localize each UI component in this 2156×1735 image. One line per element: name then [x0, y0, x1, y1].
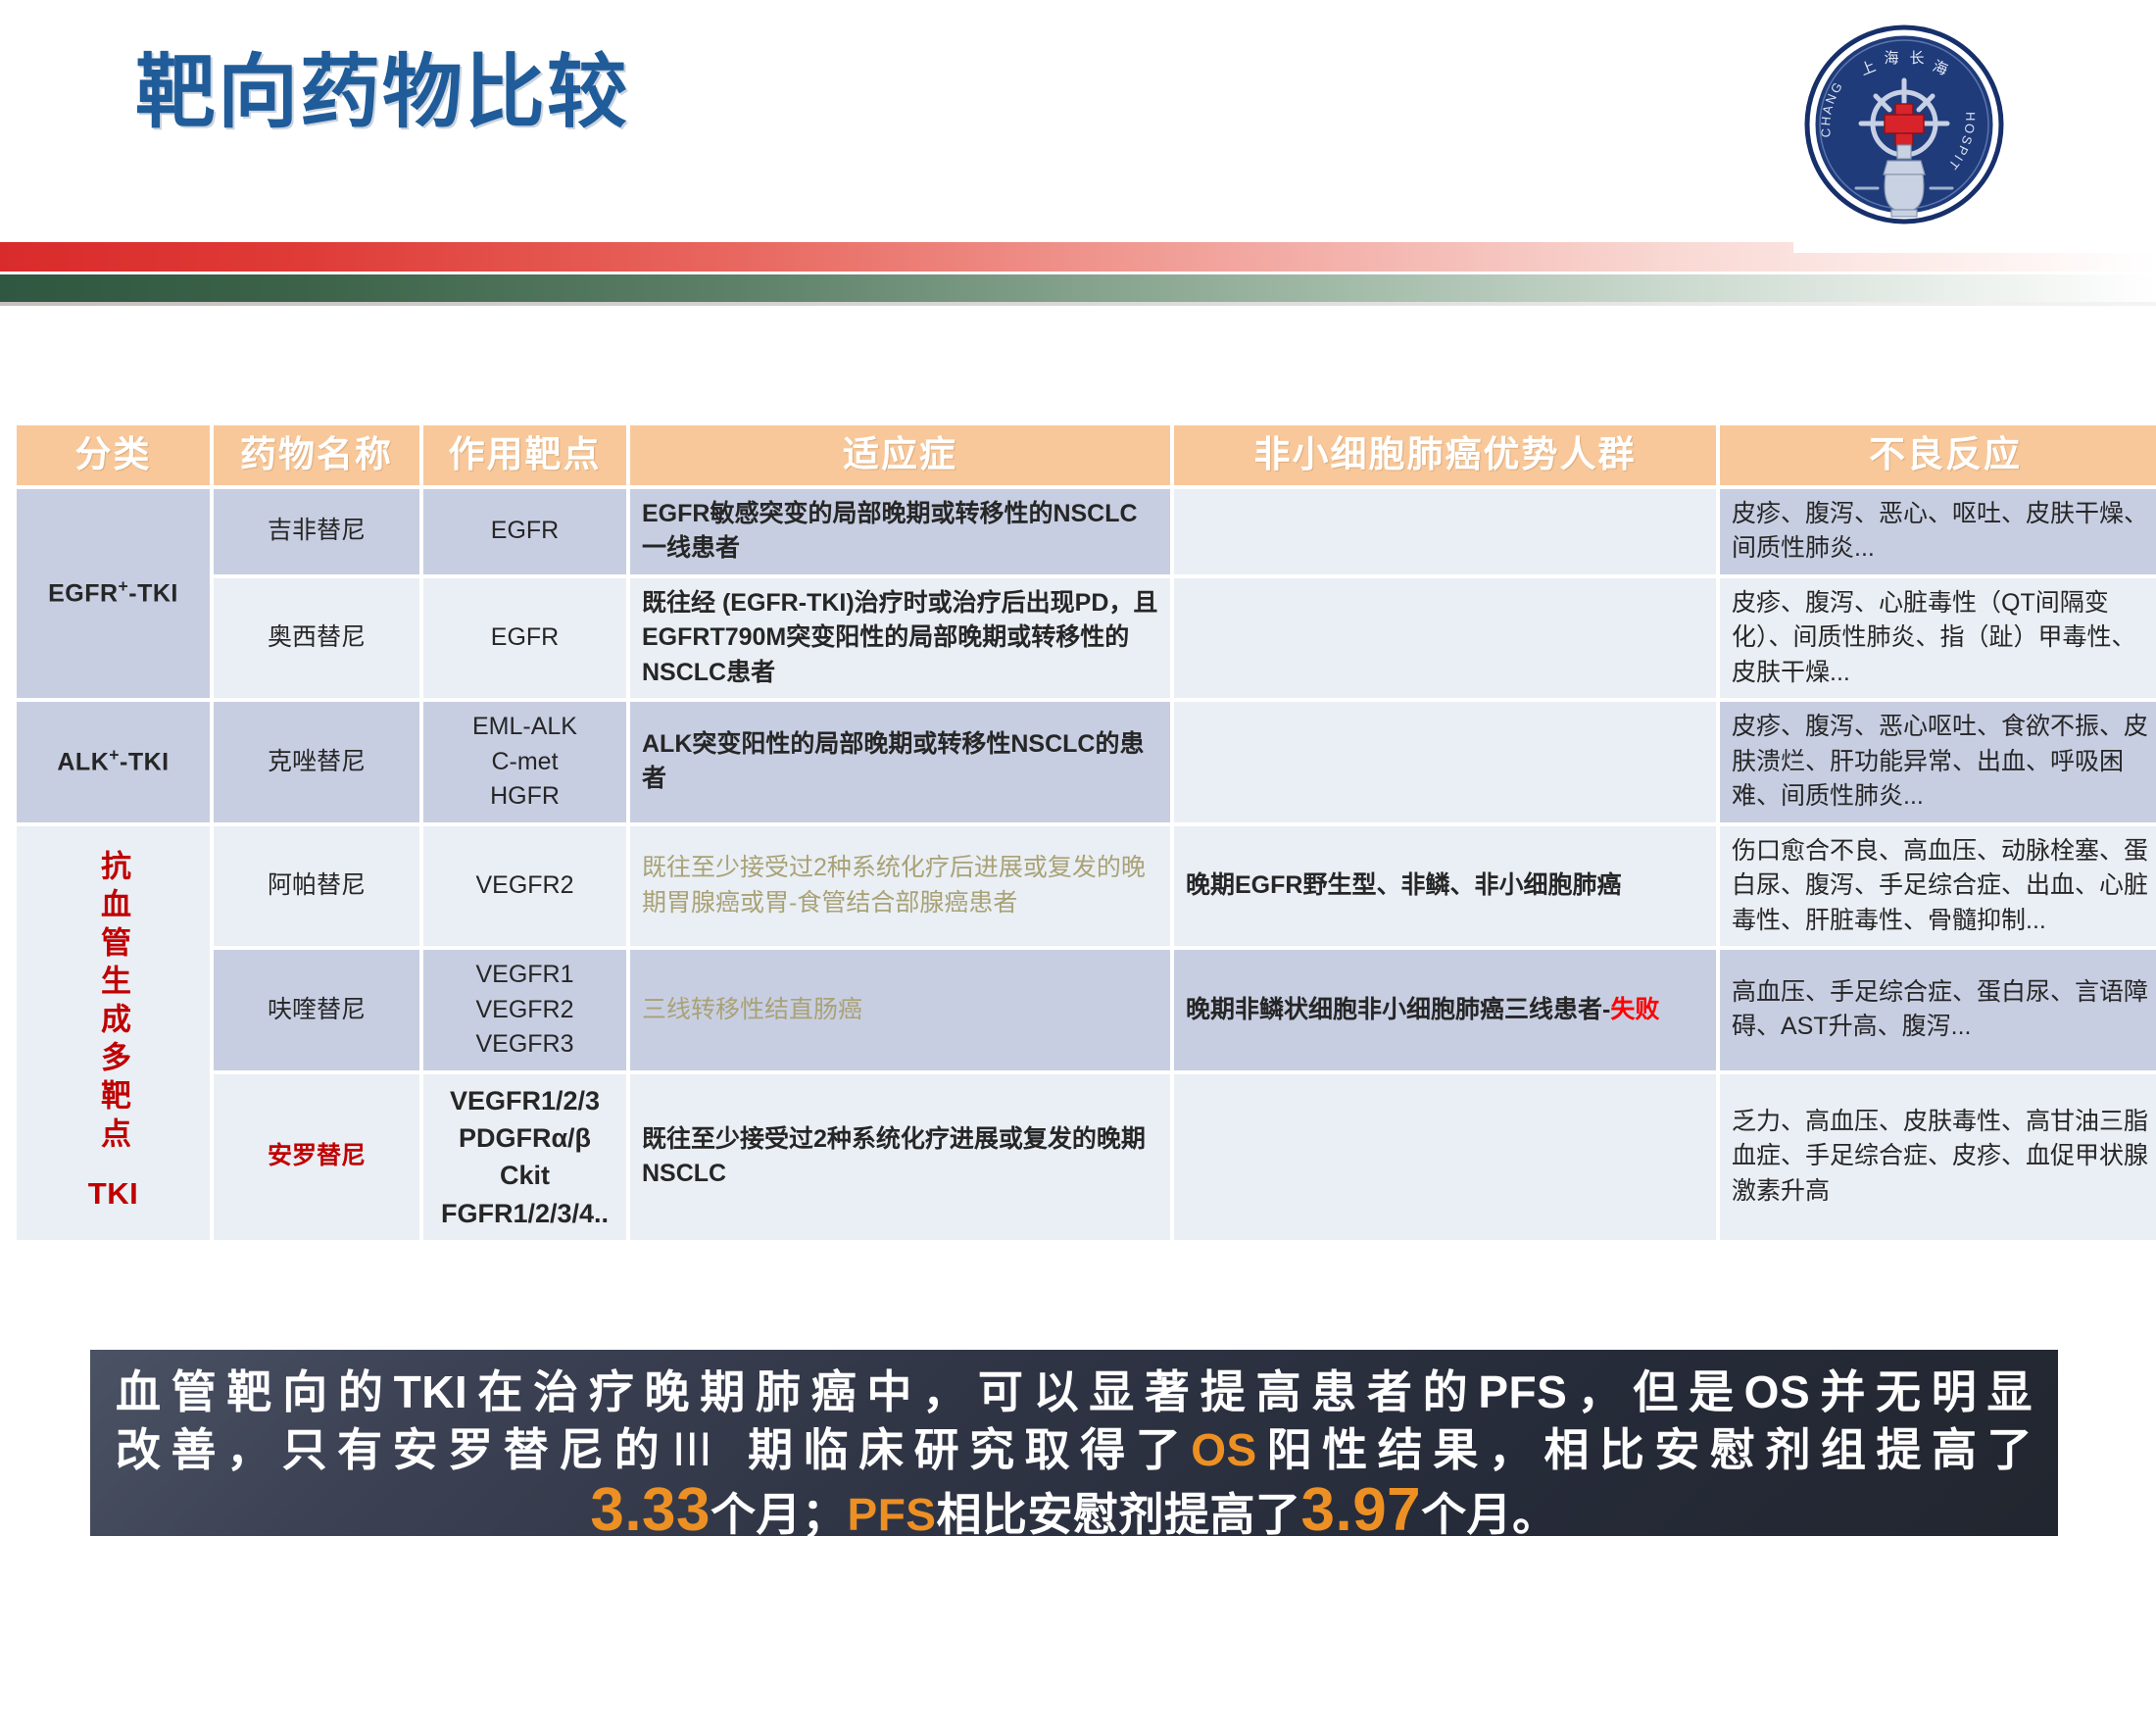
drug-comparison-table: 分类 药物名称 作用靶点 适应症 非小细胞肺癌优势人群 不良反应 EGFR+-T…: [13, 421, 2147, 1244]
adverse-cell: 皮疹、腹泻、恶心呕吐、食欲不振、皮肤溃烂、肝功能异常、出血、呼吸困难、间质性肺炎…: [1720, 702, 2156, 822]
conclusion-pfs-months: 3.97: [1300, 1476, 1421, 1544]
target-item: Ckit: [435, 1157, 614, 1194]
drug-name-cell: 克唑替尼: [214, 702, 419, 822]
table-row: ALK+-TKI 克唑替尼 EML-ALK C-met HGFR ALK突变阳性…: [17, 702, 2156, 822]
conclusion-line3-part-a: 个月；: [710, 1489, 848, 1540]
conclusion-line3-part-b: 相比安慰剂提高了: [936, 1489, 1300, 1540]
drug-name-cell: 吉非替尼: [214, 489, 419, 574]
category-cell-egfr: EGFR+-TKI: [17, 489, 210, 699]
target-item: EGFR: [435, 620, 614, 656]
target-item: VEGFR2: [435, 868, 614, 904]
population-cell: 晚期EGFR野生型、非鳞、非小细胞肺癌: [1174, 826, 1716, 947]
column-header-target: 作用靶点: [423, 425, 626, 485]
adverse-cell: 乏力、高血压、皮肤毒性、高甘油三脂血症、手足综合症、皮疹、血促甲状腺激素升高: [1720, 1074, 2156, 1240]
population-cell: 晚期非鳞状细胞非小细胞肺癌三线患者-失败: [1174, 950, 1716, 1070]
table-row: EGFR+-TKI 吉非替尼 EGFR EGFR敏感突变的局部晚期或转移性的NS…: [17, 489, 2156, 574]
category-label-egfr-tail: -TKI: [128, 580, 178, 608]
adverse-cell: 伤口愈合不良、高血压、动脉栓塞、蛋白尿、腹泻、手足综合症、出血、心脏毒性、肝脏毒…: [1720, 826, 2156, 947]
target-cell: EML-ALK C-met HGFR: [423, 702, 626, 822]
target-cell: EGFR: [423, 578, 626, 699]
table-row: 奥西替尼 EGFR 既往经 (EGFR-TKI)治疗时或治疗后出现PD，且EGF…: [17, 578, 2156, 699]
conclusion-callout: 血管靶向的TKI在治疗晚期肺癌中，可以显著提高患者的PFS，但是OS并无明显 改…: [90, 1350, 2058, 1536]
target-item: VEGFR1: [435, 958, 614, 993]
table-header-row: 分类 药物名称 作用靶点 适应症 非小细胞肺癌优势人群 不良反应: [17, 425, 2156, 485]
indication-cell: 三线转移性结直肠癌: [630, 950, 1170, 1070]
target-cell: VEGFR2: [423, 826, 626, 947]
target-item: FGFR1/2/3/4..: [435, 1195, 614, 1232]
conclusion-os-months: 3.33: [590, 1476, 710, 1544]
population-cell-empty: [1174, 578, 1716, 699]
category-cell-antiangiogenic: 抗血管生成多靶点 TKI: [17, 826, 210, 1240]
conclusion-line2-part-a: 改善，只有安罗替尼的: [116, 1424, 669, 1475]
adverse-cell: 皮疹、腹泻、心脏毒性（QT间隔变化）、间质性肺炎、指（趾）甲毒性、皮肤干燥...: [1720, 578, 2156, 699]
indication-cell: EGFR敏感突变的局部晚期或转移性的NSCLC一线患者: [630, 489, 1170, 574]
category-label-egfr-base: EGFR: [48, 580, 118, 608]
category-cell-alk: ALK+-TKI: [17, 702, 210, 822]
indication-cell: ALK突变阳性的局部晚期或转移性NSCLC的患者: [630, 702, 1170, 822]
population-text: 晚期非鳞状细胞非小细胞肺癌三线患者-: [1186, 996, 1610, 1023]
conclusion-pfs-accent: PFS: [848, 1489, 937, 1540]
conclusion-line-3: 3.33个月；PFS相比安慰剂提高了3.97个月。: [116, 1480, 2033, 1544]
conclusion-line2-part-b: 期临床研究取得了: [725, 1424, 1191, 1475]
column-header-indication: 适应症: [630, 425, 1170, 485]
conclusion-line2-part-c: 阳性结果，相比安慰剂组提高了: [1257, 1424, 2033, 1475]
target-item: VEGFR2: [435, 993, 614, 1028]
target-item: EML-ALK: [435, 710, 614, 745]
table-row: 呋喹替尼 VEGFR1 VEGFR2 VEGFR3 三线转移性结直肠癌 晚期非鳞…: [17, 950, 2156, 1070]
category-label-alk-sup: +: [109, 745, 120, 765]
page-title: 靶向药物比较: [135, 51, 629, 135]
category-label-antiangiogenic-vertical: 抗血管生成多靶点: [98, 850, 128, 1156]
target-item: EGFR: [435, 514, 614, 549]
conclusion-line-2: 改善，只有安罗替尼的Ⅲ 期临床研究取得了OS阳性结果，相比安慰剂组提高了: [116, 1421, 2033, 1480]
conclusion-os-accent: OS: [1191, 1424, 1256, 1475]
drug-name-cell: 呋喹替尼: [214, 950, 419, 1070]
target-cell: EGFR: [423, 489, 626, 574]
svg-text:长: 长: [1909, 50, 1924, 67]
population-failure-badge: 失败: [1610, 996, 1659, 1023]
drug-name-cell-highlighted: 安罗替尼: [214, 1074, 419, 1240]
column-header-drug-name: 药物名称: [214, 425, 419, 485]
table-row: 安罗替尼 VEGFR1/2/3 PDGFRα/β Ckit FGFR1/2/3/…: [17, 1074, 2156, 1240]
population-cell-empty: [1174, 1074, 1716, 1240]
drug-name-cell: 阿帕替尼: [214, 826, 419, 947]
table-row: 抗血管生成多靶点 TKI 阿帕替尼 VEGFR2 既往至少接受过2种系统化疗后进…: [17, 826, 2156, 947]
target-item: VEGFR3: [435, 1027, 614, 1063]
indication-cell: 既往至少接受过2种系统化疗进展或复发的晚期NSCLC: [630, 1074, 1170, 1240]
indication-cell: 既往经 (EGFR-TKI)治疗时或治疗后出现PD，且EGFRT790M突变阳性…: [630, 578, 1170, 699]
column-header-category: 分类: [17, 425, 210, 485]
category-label-antiangiogenic-tki: TKI: [28, 1172, 198, 1215]
target-item: C-met: [435, 745, 614, 780]
svg-text:海: 海: [1884, 50, 1898, 67]
decorative-band-green: [0, 274, 2156, 302]
category-label-alk-tail: -TKI: [120, 749, 170, 776]
target-cell: VEGFR1 VEGFR2 VEGFR3: [423, 950, 626, 1070]
conclusion-line1-text: 血管靶向的TKI在治疗晚期肺癌中，可以显著提高患者的PFS，但是OS并无明显: [116, 1366, 2033, 1417]
target-item: VEGFR1/2/3: [435, 1082, 614, 1119]
adverse-cell: 皮疹、腹泻、恶心、呕吐、皮肤干燥、间质性肺炎...: [1720, 489, 2156, 574]
conclusion-phase-roman: Ⅲ: [669, 1425, 725, 1475]
target-item: PDGFRα/β: [435, 1119, 614, 1157]
changhai-hospital-logo-icon: 上 海 长 海 CHANGHAI HOSPITAL: [1801, 22, 2007, 227]
column-header-adverse: 不良反应: [1720, 425, 2156, 485]
column-header-population: 非小细胞肺癌优势人群: [1174, 425, 1716, 485]
population-cell-empty: [1174, 702, 1716, 822]
population-cell-empty: [1174, 489, 1716, 574]
target-cell: VEGFR1/2/3 PDGFRα/β Ckit FGFR1/2/3/4..: [423, 1074, 626, 1240]
target-item: HGFR: [435, 779, 614, 815]
conclusion-line-1: 血管靶向的TKI在治疗晚期肺癌中，可以显著提高患者的PFS，但是OS并无明显: [116, 1363, 2033, 1421]
indication-cell: 既往至少接受过2种系统化疗后进展或复发的晚期胃腺癌或胃-食管结合部腺癌患者: [630, 826, 1170, 947]
drug-name-cell: 奥西替尼: [214, 578, 419, 699]
category-label-alk-base: ALK: [57, 749, 109, 776]
conclusion-line3-part-c: 个月。: [1421, 1489, 1558, 1540]
adverse-cell: 高血压、手足综合症、蛋白尿、言语障碍、AST升高、腹泻...: [1720, 950, 2156, 1070]
category-label-egfr-sup: +: [119, 576, 129, 596]
